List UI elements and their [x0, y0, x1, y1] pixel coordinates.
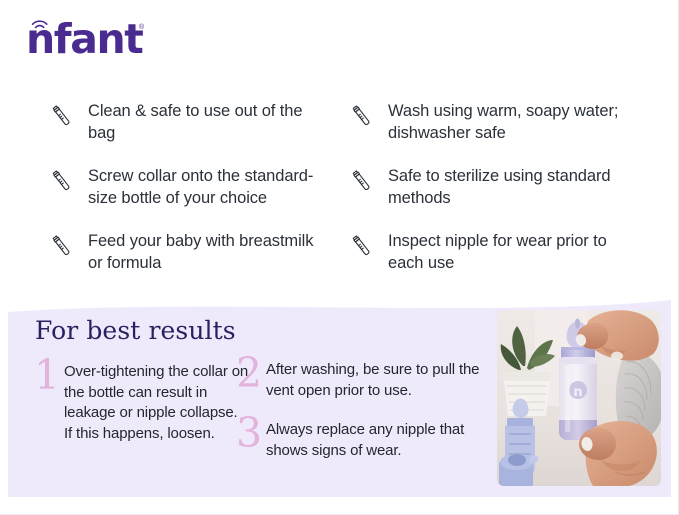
results-heading: For best results [35, 316, 236, 345]
feature-text: Screw collar onto the standard-size bott… [88, 165, 322, 209]
tip-column-one: 1 Over-tightening the collar on the bott… [34, 362, 249, 444]
tip-column-two: 2 After washing, be sure to pull the ven… [236, 360, 498, 461]
feature-text: Clean & safe to use out of the bag [88, 100, 322, 144]
svg-text:n: n [573, 385, 582, 400]
feature-item: Screw collar onto the standard-size bott… [50, 165, 322, 209]
tip-number: 1 [34, 356, 64, 394]
for-best-results-panel: For best results 1 Over-tightening the c… [8, 298, 671, 497]
feature-text: Feed your baby with breastmilk or formul… [88, 230, 322, 274]
baby-bottle-icon [50, 102, 76, 132]
feature-list-left: Clean & safe to use out of the bag Screw… [50, 100, 322, 295]
tip-number: 3 [236, 414, 266, 452]
feature-item: Clean & safe to use out of the bag [50, 100, 322, 144]
baby-bottle-icon [350, 102, 376, 132]
feature-item: Inspect nipple for wear prior to each us… [350, 230, 622, 274]
baby-bottle-icon [50, 167, 76, 197]
baby-bottle-icon [350, 232, 376, 262]
baby-bottle-icon [350, 167, 376, 197]
feature-item: Feed your baby with breastmilk or formul… [50, 230, 322, 274]
product-photo-hands-holding-bottle: n [497, 310, 661, 486]
baby-bottle-icon [50, 232, 76, 262]
tip-text: Over-tightening the collar on the bottle… [64, 362, 249, 444]
tip-text: After washing, be sure to pull the vent … [266, 360, 498, 401]
tip-text: Always replace any nipple that shows sig… [266, 420, 498, 461]
feature-text: Inspect nipple for wear prior to each us… [388, 230, 622, 274]
product-infographic: nfant ® Clean & safe to use out of the b… [0, 0, 679, 515]
feature-item: Wash using warm, soapy water; dishwasher… [350, 100, 622, 144]
brand-logo: nfant ® [26, 16, 226, 64]
feature-text: Safe to sterilize using standard methods [388, 165, 622, 209]
registered-trademark-symbol: ® [139, 24, 144, 31]
tip-number: 2 [236, 354, 266, 392]
feature-text: Wash using warm, soapy water; dishwasher… [388, 100, 622, 144]
tip-item: 3 Always replace any nipple that shows s… [236, 420, 498, 461]
feature-item: Safe to sterilize using standard methods [350, 165, 622, 209]
tip-item: 2 After washing, be sure to pull the ven… [236, 360, 498, 401]
brand-wordmark: nfant [26, 16, 142, 62]
tip-item: 1 Over-tightening the collar on the bott… [34, 362, 249, 444]
feature-list-right: Wash using warm, soapy water; dishwasher… [350, 100, 622, 295]
